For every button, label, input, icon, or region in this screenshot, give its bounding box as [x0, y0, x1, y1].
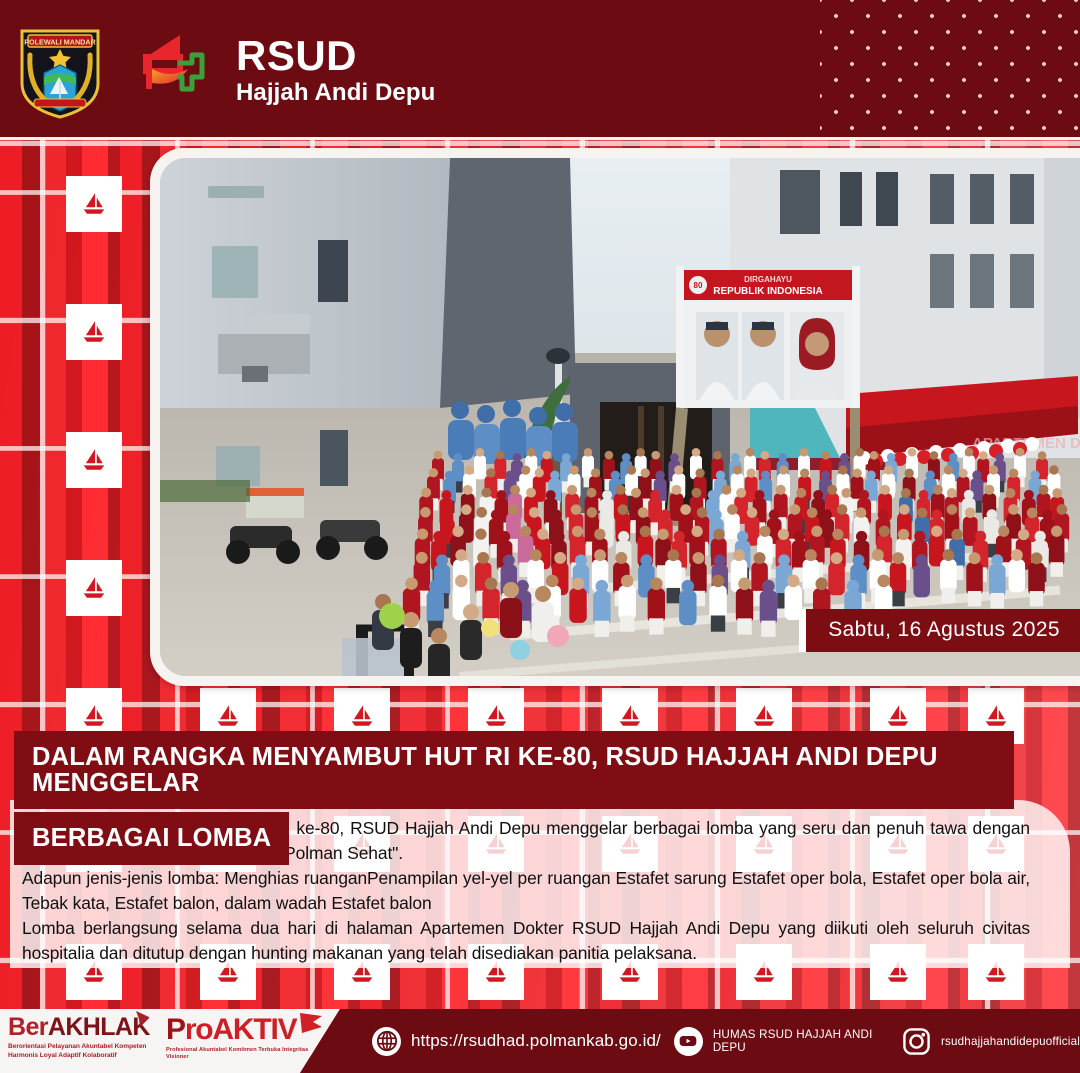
youtube-contact[interactable]: HUMAS RSUD HAJJAH ANDI DEPU	[674, 1027, 889, 1056]
header-bar: POLEWALI MANDAR	[0, 0, 1080, 140]
globe-icon	[372, 1027, 401, 1056]
footer-contact-group: https://rsudhad.polmankab.go.id/ HUMAS R…	[372, 1009, 1080, 1073]
proaktiv-tagline: Profesional Akuntabel Komitmen Terbuka I…	[166, 1047, 318, 1062]
berakhlak-ber: Ber	[8, 1013, 48, 1041]
sailboat-icon	[885, 703, 911, 729]
photo-date-badge: Sabtu, 16 Agustus 2025	[799, 609, 1080, 652]
sailboat-icon	[81, 575, 107, 601]
sailboat-icon	[81, 703, 107, 729]
body-paragraph-2: Adapun jenis-jenis lomba: Menghias ruang…	[22, 866, 1030, 916]
berakhlak-tagline: Berorientasi Pelayanan Akuntabel Kompete…	[8, 1043, 148, 1061]
svg-text:REPUBLIK INDONESIA: REPUBLIK INDONESIA	[713, 286, 822, 297]
sailboat-tile	[66, 304, 122, 360]
headline-line-1: DALAM RANGKA MENYAMBUT HUT RI KE-80, RSU…	[14, 731, 1014, 809]
svg-text:DIRGAHAYU: DIRGAHAYU	[744, 275, 792, 284]
footer-bar: BerAKHLAK Berorientasi Pelayanan Akuntab…	[0, 1009, 1080, 1073]
headline: DALAM RANGKA MENYAMBUT HUT RI KE-80, RSU…	[14, 731, 1014, 865]
berakhlak-wordmark: BerAKHLAK	[8, 1015, 148, 1040]
instagram-contact[interactable]: rsudhajjahandidepuofficial	[902, 1027, 1080, 1056]
body-paragraph-3: Lomba berlangsung selama dua hari di hal…	[22, 916, 1030, 966]
event-photo: APARTEMEN DOKTER 80 DIRGAHAY	[160, 158, 1080, 676]
sailboat-icon	[81, 447, 107, 473]
rsud-wordmark: RSUD Hajjah Andi Depu	[236, 35, 435, 105]
svg-text:80: 80	[694, 281, 703, 290]
proaktiv-rest: roAKTIV	[185, 1013, 297, 1046]
footer-logo-group: BerAKHLAK Berorientasi Pelayanan Akuntab…	[8, 1015, 318, 1062]
youtube-channel: HUMAS RSUD HAJJAH ANDI DEPU	[713, 1028, 889, 1054]
berakhlak-logo: BerAKHLAK Berorientasi Pelayanan Akuntab…	[8, 1015, 148, 1061]
proaktiv-wordmark: ProAKTIV	[166, 1015, 318, 1045]
sailboat-tile	[66, 560, 122, 616]
proaktiv-p: P	[166, 1013, 185, 1046]
sailboat-icon	[81, 319, 107, 345]
proaktiv-flag-icon	[298, 1011, 324, 1035]
polewali-mandar-crest-icon: POLEWALI MANDAR	[14, 21, 106, 119]
sailboat-icon	[215, 703, 241, 729]
poster-root: POLEWALI MANDAR	[0, 0, 1080, 1073]
website-url: https://rsudhad.polmankab.go.id/	[411, 1031, 661, 1051]
berakhlak-chevron-icon	[134, 1010, 150, 1028]
svg-text:POLEWALI MANDAR: POLEWALI MANDAR	[24, 38, 96, 47]
berakhlak-tagline-line-2: Harmonis Loyal Adaptif Kolaboratif	[8, 1052, 148, 1061]
sailboat-icon	[349, 703, 375, 729]
berakhlak-tagline-line-1: Berorientasi Pelayanan Akuntabel Kompete…	[8, 1043, 148, 1052]
sailboat-icon	[81, 191, 107, 217]
instagram-handle: rsudhajjahandidepuofficial	[941, 1035, 1080, 1048]
proaktiv-logo: ProAKTIV Profesional Akuntabel Komitmen …	[166, 1015, 318, 1062]
sailboat-icon	[751, 703, 777, 729]
sailboat-icon	[617, 703, 643, 729]
rsud-title: RSUD	[236, 35, 435, 77]
sailboat-tile	[66, 176, 122, 232]
website-contact[interactable]: https://rsudhad.polmankab.go.id/	[372, 1027, 661, 1056]
instagram-icon	[902, 1027, 931, 1056]
youtube-icon	[674, 1027, 703, 1056]
sailboat-icon	[483, 703, 509, 729]
sailboat-icon	[983, 703, 1009, 729]
rsud-subtitle: Hajjah Andi Depu	[236, 81, 435, 105]
sailboat-tile	[66, 432, 122, 488]
headline-line-2: BERBAGAI LOMBA	[14, 812, 289, 865]
rsud-cross-logo-icon	[128, 29, 220, 111]
photo-frame: APARTEMEN DOKTER 80 DIRGAHAY	[150, 148, 1080, 686]
